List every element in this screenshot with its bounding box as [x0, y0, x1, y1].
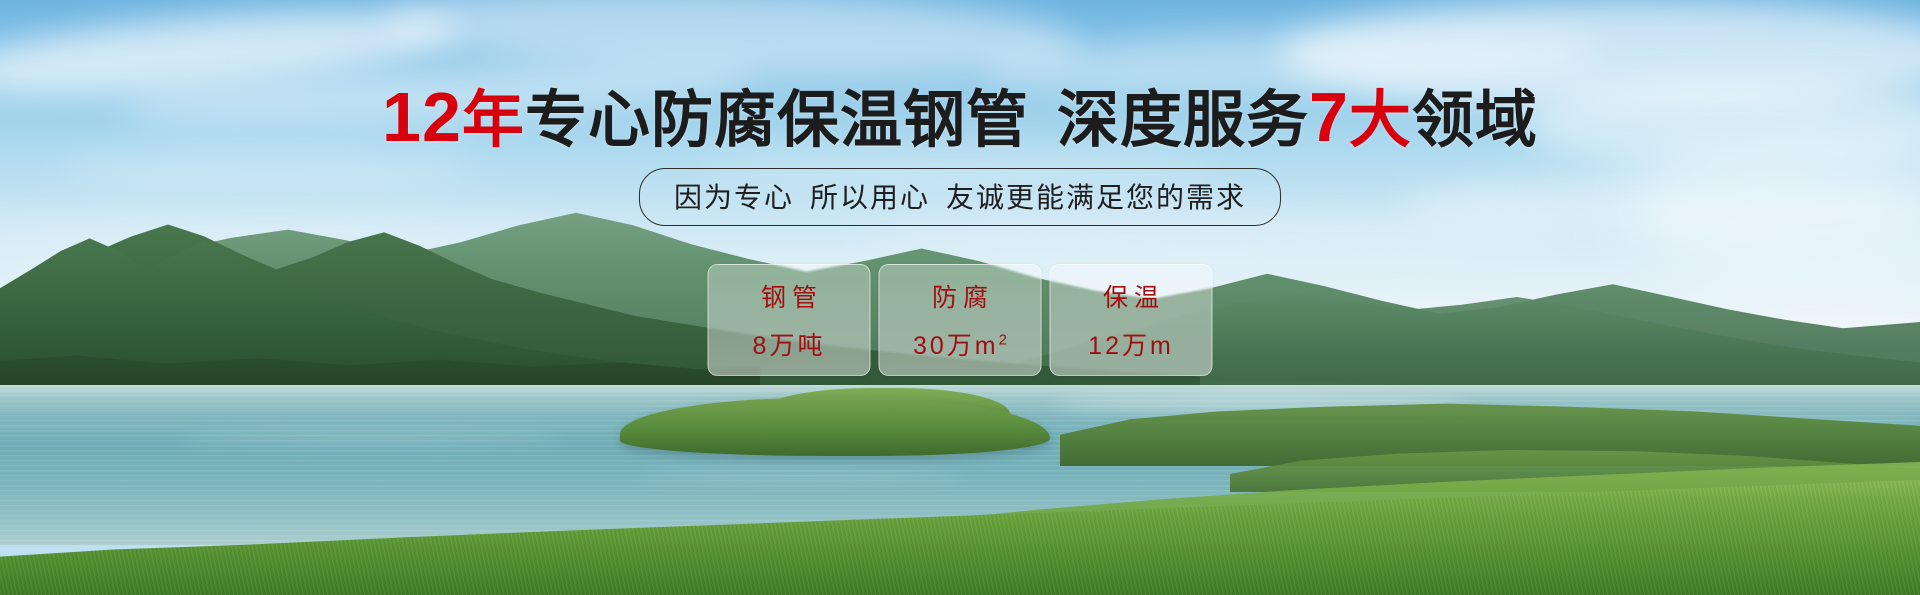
stat-card-insulation[interactable]: 保温 12万m: [1050, 264, 1213, 376]
headline-main-text: 专心防腐保温钢管: [525, 86, 1029, 155]
stat-card-title: 钢管: [755, 278, 823, 314]
stat-card-value-text: 8万吨: [753, 332, 826, 360]
hero-banner: 12年专心防腐保温钢管深度服务7大领域 因为专心所以用心友诚更能满足您的需求 钢…: [0, 0, 1920, 595]
headline-service-text: 深度服务: [1057, 86, 1309, 155]
headline-fields-text: 领域: [1412, 86, 1538, 155]
water-highlight: [640, 470, 960, 482]
headline-years-number: 12: [382, 78, 462, 156]
stat-card-steel-pipe[interactable]: 钢管 8万吨: [708, 264, 871, 376]
subtitle-phrase-3: 友诚更能满足您的需求: [946, 182, 1246, 213]
headline-fields-unit: 大: [1349, 86, 1412, 155]
stat-card-value-text: 30万m: [913, 332, 999, 360]
stat-card-value-text: 12万m: [1088, 332, 1174, 360]
water-highlight: [180, 432, 560, 444]
banner-subtitle-pill: 因为专心所以用心友诚更能满足您的需求: [639, 168, 1281, 226]
stat-card-value: 8万吨: [753, 326, 826, 362]
headline-years-unit: 年: [462, 86, 525, 155]
subtitle-phrase-1: 因为专心: [674, 182, 794, 213]
stat-card-group: 钢管 8万吨 防腐 30万m2 保温 12万m: [708, 264, 1213, 376]
stat-card-value: 12万m: [1088, 326, 1174, 362]
headline-fields-number: 7: [1309, 78, 1349, 156]
stat-card-title: 防腐: [926, 278, 994, 314]
stat-card-value: 30万m2: [913, 326, 1007, 362]
subtitle-phrase-2: 所以用心: [810, 182, 930, 213]
banner-headline: 12年专心防腐保温钢管深度服务7大领域: [0, 82, 1920, 156]
stat-card-anticorrosion[interactable]: 防腐 30万m2: [879, 264, 1042, 376]
stat-card-title: 保温: [1097, 278, 1165, 314]
stat-card-value-superscript: 2: [999, 332, 1007, 349]
